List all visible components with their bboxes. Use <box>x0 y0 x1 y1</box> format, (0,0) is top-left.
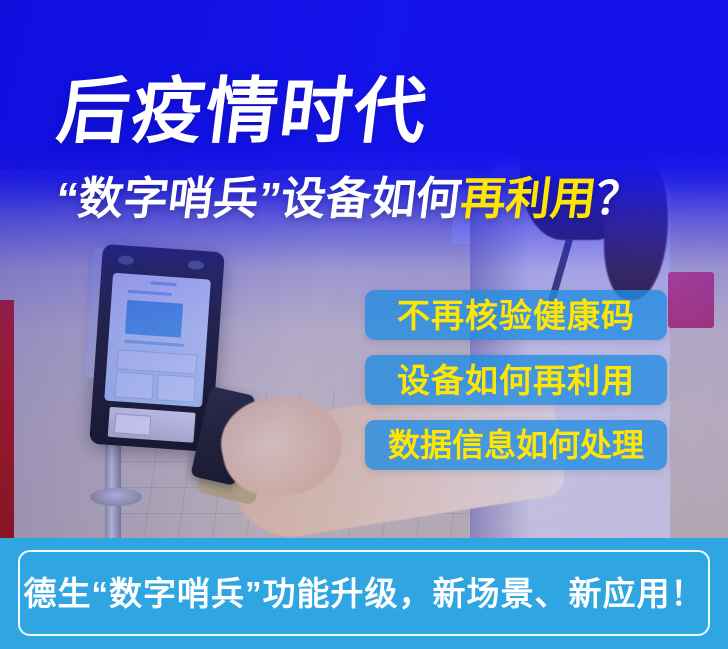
promo-poster: 后疫情时代 “数字哨兵”设备如何再利用？ 不再核验健康码 设备如何再利用 数据信… <box>0 0 728 649</box>
bottom-banner-box: 德生“数字哨兵”功能升级，新场景、新应用！ <box>18 550 710 636</box>
bottom-banner-text: 德生“数字哨兵”功能升级，新场景、新应用！ <box>24 577 705 610</box>
topic-pill-3[interactable]: 数据信息如何处理 <box>365 420 667 470</box>
subtitle-question-mark: ？ <box>593 173 644 224</box>
topic-pill-list: 不再核验健康码 设备如何再利用 数据信息如何处理 <box>365 290 667 470</box>
topic-pill-3-label: 数据信息如何处理 <box>388 429 644 461</box>
topic-pill-2-label: 设备如何再利用 <box>397 364 635 397</box>
subtitle-highlight: 再利用 <box>458 173 599 224</box>
subtitle-lead: “数字哨兵”设备如何 <box>53 173 464 224</box>
bottom-banner: 德生“数字哨兵”功能升级，新场景、新应用！ <box>0 538 728 649</box>
topic-pill-1-label: 不再核验健康码 <box>397 299 635 332</box>
topic-pill-2[interactable]: 设备如何再利用 <box>365 355 667 405</box>
topic-pill-1[interactable]: 不再核验健康码 <box>365 290 667 340</box>
page-subtitle: “数字哨兵”设备如何再利用？ <box>53 176 644 221</box>
page-title: 后疫情时代 <box>54 76 433 148</box>
